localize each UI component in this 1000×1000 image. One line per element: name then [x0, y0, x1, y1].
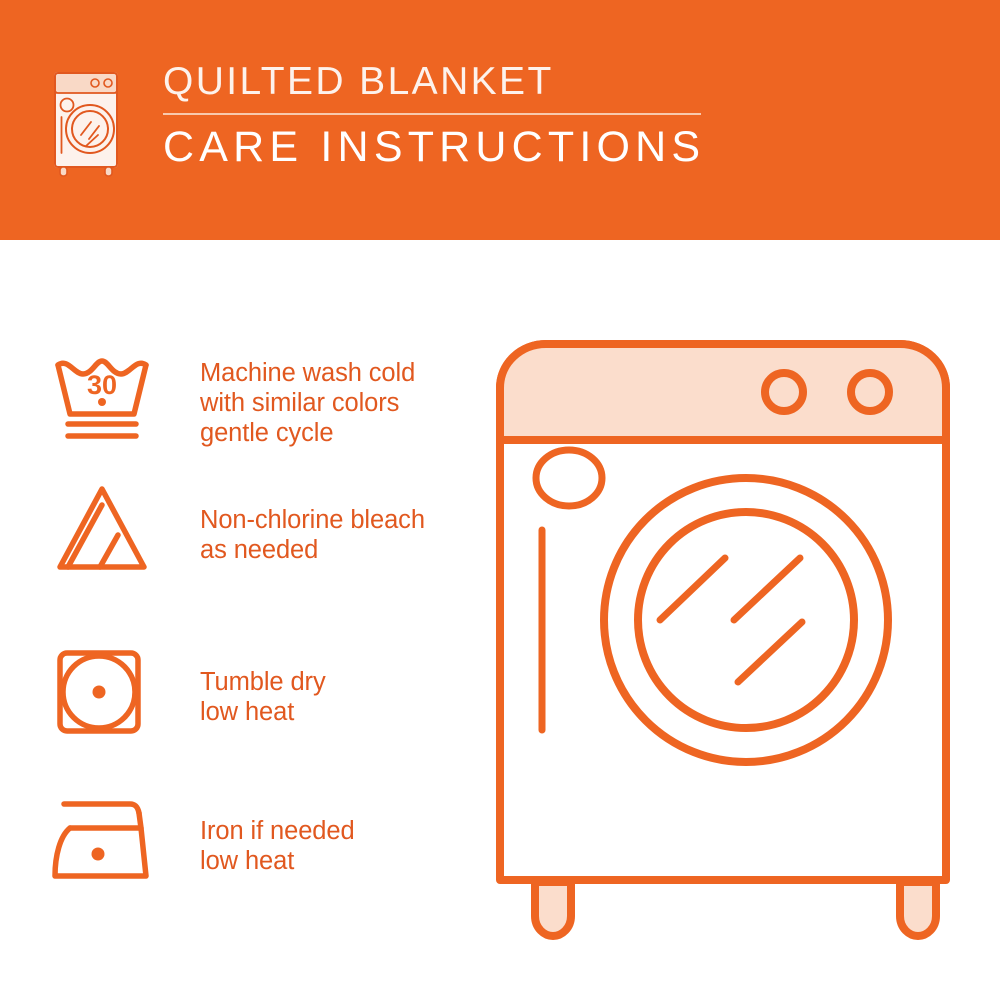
header-content: QUILTED BLANKET CARE INSTRUCTIONS: [46, 60, 705, 177]
leg-right: [900, 882, 936, 936]
care-instruction-text: Machine wash cold with similar colors ge…: [200, 358, 415, 448]
header-title-group: QUILTED BLANKET CARE INSTRUCTIONS: [163, 62, 705, 169]
control-knob-right: [851, 373, 889, 411]
page-title-primary: QUILTED BLANKET: [163, 62, 705, 101]
wash-temperature-label: 30: [87, 370, 117, 400]
page-title-secondary: CARE INSTRUCTIONS: [163, 126, 705, 169]
care-instructions-list: 30 Machine wash cold with similar colors…: [0, 240, 480, 1000]
care-instruction-item: Tumble dry low heat: [52, 642, 472, 742]
care-instruction-text: Non-chlorine bleach as needed: [200, 505, 425, 565]
care-instruction-text: Tumble dry low heat: [200, 667, 326, 727]
care-instruction-text: Iron if needed low heat: [200, 816, 355, 876]
front-load-washing-machine-illustration: [488, 330, 958, 940]
care-instruction-item: Iron if needed low heat: [52, 788, 472, 888]
iron-low-heat-icon: [52, 788, 152, 888]
non-chlorine-bleach-triangle-icon: [52, 480, 152, 580]
washing-machine-icon: [46, 65, 130, 177]
title-divider: [163, 113, 701, 115]
care-instruction-item: 30 Machine wash cold with similar colors…: [52, 348, 472, 448]
header-band: QUILTED BLANKET CARE INSTRUCTIONS: [0, 0, 1000, 240]
tumble-dry-low-icon: [52, 642, 152, 742]
machine-wash-30-icon: 30: [52, 348, 152, 448]
care-instruction-item: Non-chlorine bleach as needed: [52, 480, 472, 580]
leg-left: [535, 882, 571, 936]
control-knob-left: [765, 373, 803, 411]
